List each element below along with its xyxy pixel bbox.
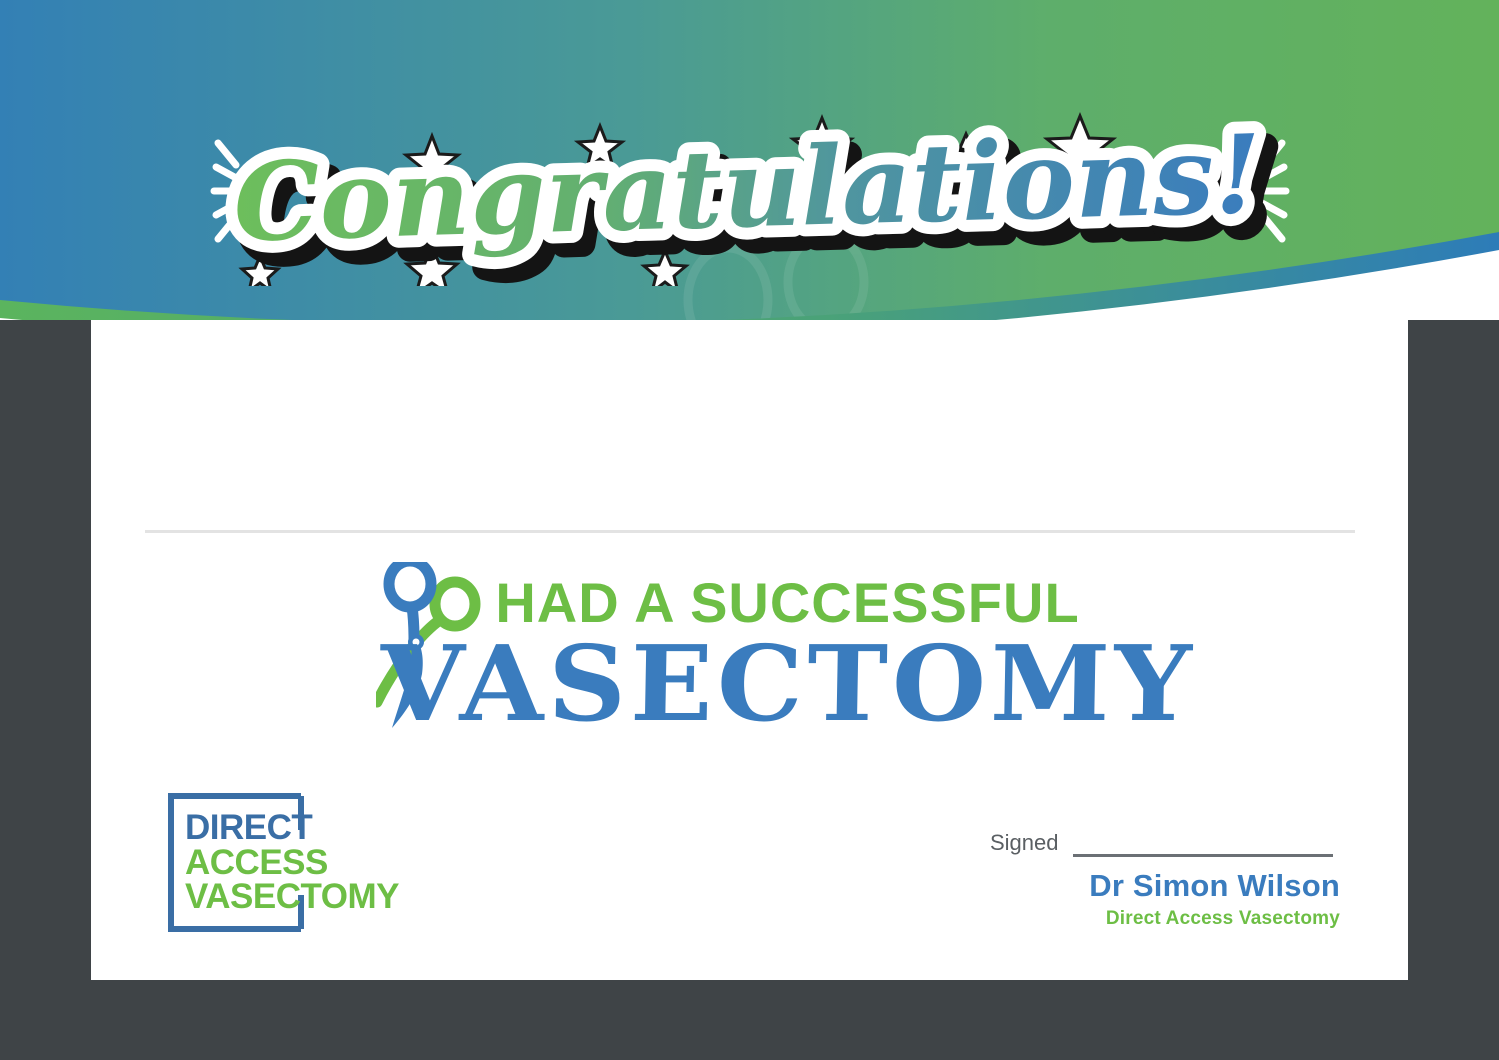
logo-line-direct: DIRECT xyxy=(185,811,399,846)
brand-logo: DIRECT ACCESS VASECTOMY xyxy=(165,790,415,935)
signer-name: Dr Simon Wilson xyxy=(1089,868,1340,904)
certificate-canvas: Congratulations! Congratulations! Congra… xyxy=(0,0,1499,1060)
statement-line-two: VASECTOMY xyxy=(379,632,1196,736)
signature-block: Signed Dr Simon Wilson Direct Access Vas… xyxy=(990,830,1340,940)
signed-label: Signed xyxy=(990,830,1059,856)
signer-organisation: Direct Access Vasectomy xyxy=(1106,908,1340,930)
signed-row: Signed xyxy=(990,830,1340,862)
logo-line-vasectomy: VASECTOMY xyxy=(185,880,399,915)
congratulations-title: Congratulations! Congratulations! Congra… xyxy=(0,96,1499,286)
logo-wordmark: DIRECT ACCESS VASECTOMY xyxy=(185,811,399,915)
logo-line-access: ACCESS xyxy=(185,846,399,881)
horizontal-divider xyxy=(145,530,1355,533)
achievement-statement: HAD A SUCCESSFUL VASECTOMY xyxy=(91,556,1408,746)
signature-line xyxy=(1073,854,1333,857)
statement-line-two-wrap: VASECTOMY xyxy=(91,632,1408,736)
